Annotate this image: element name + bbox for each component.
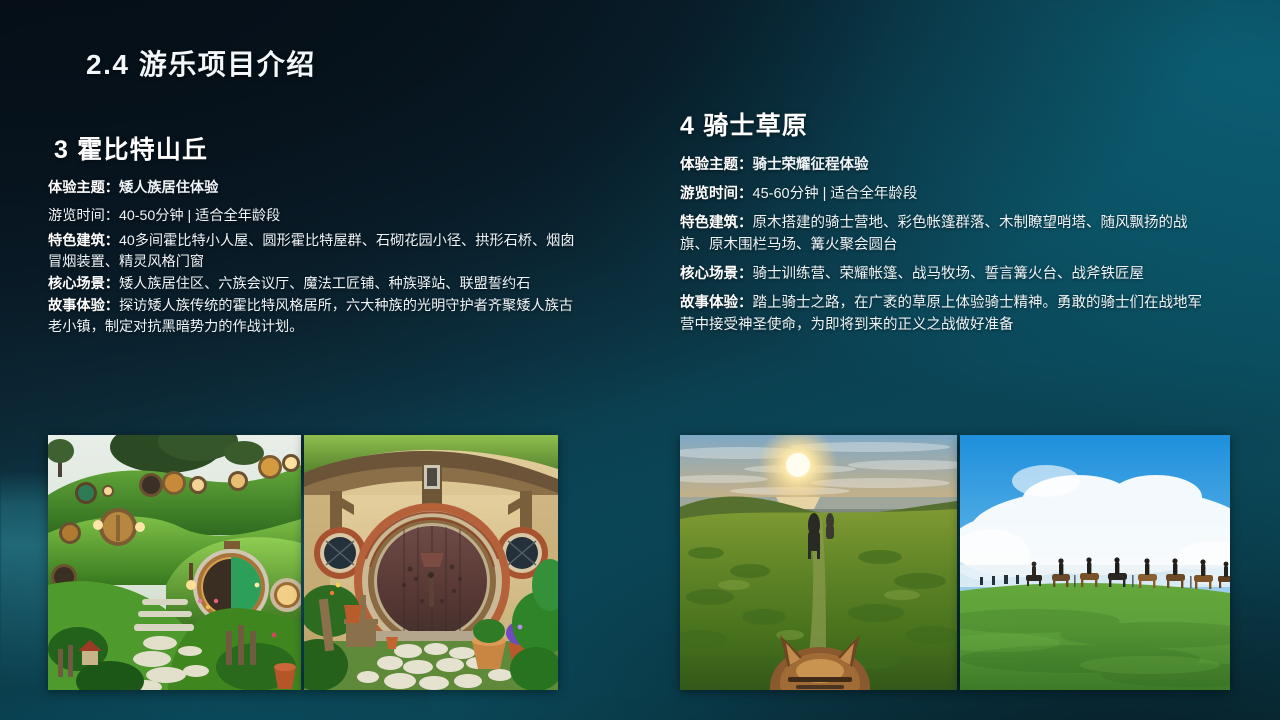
detail-value: 骑士荣耀征程体验: [753, 157, 869, 173]
detail-label: 游览时间：: [680, 186, 753, 202]
grassland-riders-photo: [960, 435, 1230, 690]
hobbit-round-door-photo: [304, 435, 558, 690]
slide-root: 2.4 游乐项目介绍 3 霍比特山丘 体验主题：矮人族居住体验 游览时间：40-…: [0, 0, 1280, 720]
detail-label: 特色建筑：: [680, 215, 753, 231]
detail-row-core-scenes: 核心场景：骑士训练营、荣耀帐篷、战马牧场、誓言篝火台、战斧铁匠屋: [680, 263, 1210, 285]
detail-label: 核心场景：: [680, 266, 753, 282]
detail-row-theme: 体验主题：矮人族居住体验: [48, 178, 578, 199]
detail-value: 原木搭建的骑士营地、彩色帐篷群落、木制瞭望哨塔、随风飘扬的战旗、原木围栏马场、篝…: [680, 215, 1188, 253]
detail-row-duration: 游览时间：45-60分钟 | 适合全年龄段: [680, 183, 1210, 205]
detail-label: 游览时间：: [48, 208, 119, 224]
detail-value: 探访矮人族传统的霍比特风格居所，六大种族的光明守护者齐聚矮人族古老小镇，制定对抗…: [48, 298, 573, 335]
hobbiton-village-photo: [48, 435, 301, 690]
detail-row-architecture: 特色建筑：40多间霍比特小人屋、圆形霍比特屋群、石砌花园小径、拱形石桥、烟囱冒烟…: [48, 231, 578, 273]
detail-row-story: 故事体验：踏上骑士之路，在广袤的草原上体验骑士精神。勇敢的骑士们在战地军营中接受…: [680, 292, 1210, 336]
page-title: 2.4 游乐项目介绍: [86, 43, 316, 83]
section-heading: 4 骑士草原: [680, 106, 1210, 142]
detail-row-story: 故事体验：探访矮人族传统的霍比特风格居所，六大种族的光明守护者齐聚矮人族古老小镇…: [48, 296, 578, 338]
detail-row-theme: 体验主题：骑士荣耀征程体验: [680, 154, 1210, 176]
section-heading: 3 霍比特山丘: [54, 130, 578, 166]
detail-value: 40-50分钟 | 适合全年龄段: [119, 208, 280, 224]
detail-label: 特色建筑：: [48, 233, 119, 249]
detail-label: 故事体验：: [48, 298, 119, 314]
detail-value: 40多间霍比特小人屋、圆形霍比特屋群、石砌花园小径、拱形石桥、烟囱冒烟装置、精灵…: [48, 233, 575, 270]
detail-label: 核心场景：: [48, 276, 119, 292]
detail-value: 45-60分钟 | 适合全年龄段: [753, 186, 918, 202]
detail-value: 矮人族居住区、六族会议厅、魔法工匠铺、种族驿站、联盟誓约石: [119, 276, 530, 292]
photo-strip-hobbit-hills: [48, 435, 558, 690]
detail-label: 体验主题：: [680, 157, 753, 173]
photo-strip-knight-grassland: [680, 435, 1230, 690]
detail-label: 故事体验：: [680, 295, 753, 311]
detail-row-core-scenes: 核心场景：矮人族居住区、六族会议厅、魔法工匠铺、种族驿站、联盟誓约石: [48, 274, 578, 295]
section-knight-grassland: 4 骑士草原 体验主题：骑士荣耀征程体验 游览时间：45-60分钟 | 适合全年…: [680, 106, 1210, 343]
detail-label: 体验主题：: [48, 180, 119, 196]
horseback-sunset-photo: [680, 435, 957, 690]
detail-row-architecture: 特色建筑：原木搭建的骑士营地、彩色帐篷群落、木制瞭望哨塔、随风飘扬的战旗、原木围…: [680, 212, 1210, 256]
detail-row-duration: 游览时间：40-50分钟 | 适合全年龄段: [48, 206, 578, 227]
detail-value: 矮人族居住体验: [119, 180, 218, 196]
section-hobbit-hills: 3 霍比特山丘 体验主题：矮人族居住体验 游览时间：40-50分钟 | 适合全年…: [48, 130, 578, 339]
detail-value: 踏上骑士之路，在广袤的草原上体验骑士精神。勇敢的骑士们在战地军营中接受神圣使命，…: [680, 295, 1202, 333]
detail-value: 骑士训练营、荣耀帐篷、战马牧场、誓言篝火台、战斧铁匠屋: [753, 266, 1145, 282]
